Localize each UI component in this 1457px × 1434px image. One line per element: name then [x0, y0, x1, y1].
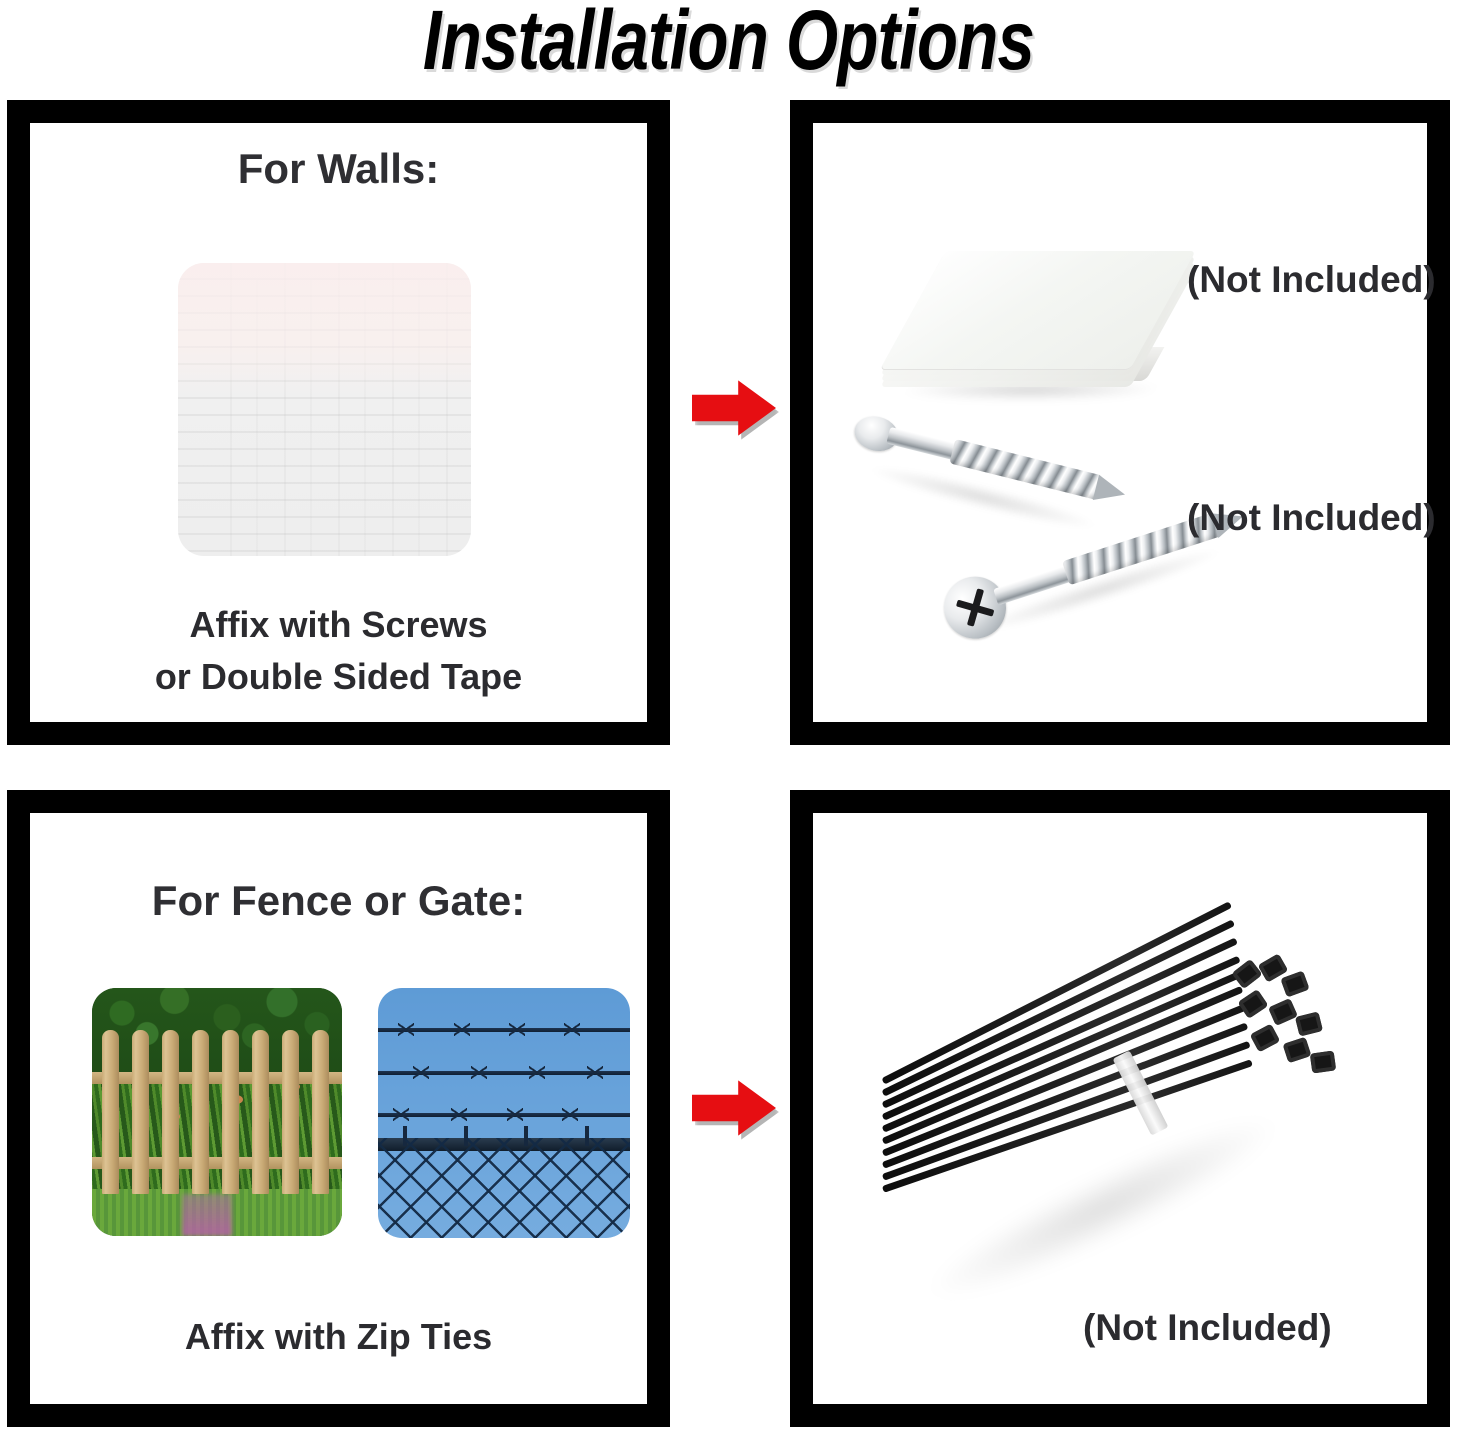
panel-wall-hardware: (Not Included) (Not Included) — [790, 100, 1450, 745]
barb-spike — [564, 1023, 580, 1036]
fence-caption: Affix with Zip Ties — [30, 1313, 647, 1361]
barb-spike — [471, 1066, 487, 1079]
for-fence-heading: For Fence or Gate: — [30, 877, 647, 925]
panel-for-walls: For Walls: Affix with Screws or Double S… — [7, 100, 670, 745]
zip-tie-head — [1237, 989, 1268, 1019]
arrow-body — [692, 378, 776, 438]
panel-fence-hardware: (Not Included) — [790, 790, 1450, 1427]
barb-spike — [413, 1066, 429, 1079]
zip-tie-head — [1280, 970, 1309, 997]
tape-not-included-label: (Not Included) — [1187, 259, 1436, 301]
fence-rail-lower — [92, 1157, 342, 1169]
tall-grass-foliage — [92, 1082, 342, 1201]
arrow-body — [692, 1078, 776, 1138]
barb-spike — [393, 1108, 409, 1121]
chain-link-mesh — [378, 1138, 630, 1238]
barb-spike — [562, 1108, 578, 1121]
red-right-arrow-walls — [692, 378, 776, 438]
screw-head-phillips — [936, 569, 1014, 647]
walls-caption-line-2: or Double Sided Tape — [30, 653, 647, 701]
garden-path — [182, 1194, 232, 1236]
barb-spike — [509, 1023, 525, 1036]
barb-spike — [507, 1108, 523, 1121]
fence-picket — [282, 1030, 299, 1194]
fence-picket — [132, 1030, 149, 1194]
barb-spike — [451, 1108, 467, 1121]
barbed-wire-strand-3 — [378, 1113, 630, 1117]
barb-spike — [454, 1023, 470, 1036]
fence-picket — [102, 1030, 119, 1194]
barb-spike — [587, 1066, 603, 1079]
fence-picket — [312, 1030, 329, 1194]
fence-picket — [192, 1030, 209, 1194]
zip-tie-head — [1282, 1037, 1311, 1063]
double-sided-tape-stack-photo — [891, 251, 1201, 436]
screw-tip — [1093, 475, 1128, 507]
fence-picket — [162, 1030, 179, 1194]
white-brick-wall-photo — [178, 263, 471, 556]
zip-tie-head — [1310, 1050, 1337, 1073]
fence-picket — [222, 1030, 239, 1194]
chain-link-barbed-wire-fence-photo — [378, 988, 630, 1238]
screws-not-included-label: (Not Included) — [1187, 497, 1436, 539]
page-title: Installation Options — [146, 0, 1312, 86]
wooden-picket-fence-photo — [92, 988, 342, 1236]
black-zip-ties-bundle-photo — [873, 928, 1343, 1328]
fence-picket — [252, 1030, 269, 1194]
panel-for-fence-or-gate: For Fence or Gate: — [7, 790, 670, 1427]
zip-ties-not-included-label: (Not Included) — [1083, 1307, 1332, 1349]
barb-spike — [398, 1023, 414, 1036]
barbed-wire-strand-1 — [378, 1028, 630, 1032]
zip-tie-head — [1295, 1011, 1323, 1036]
for-walls-heading: For Walls: — [30, 145, 647, 193]
red-right-arrow-fence — [692, 1078, 776, 1138]
zip-tie-head — [1250, 1024, 1281, 1053]
barb-spike — [529, 1066, 545, 1079]
zip-tie-head — [1268, 998, 1298, 1026]
brick-color-wash — [178, 263, 471, 556]
walls-caption-line-1: Affix with Screws — [30, 601, 647, 649]
fence-rail-upper — [92, 1072, 342, 1084]
